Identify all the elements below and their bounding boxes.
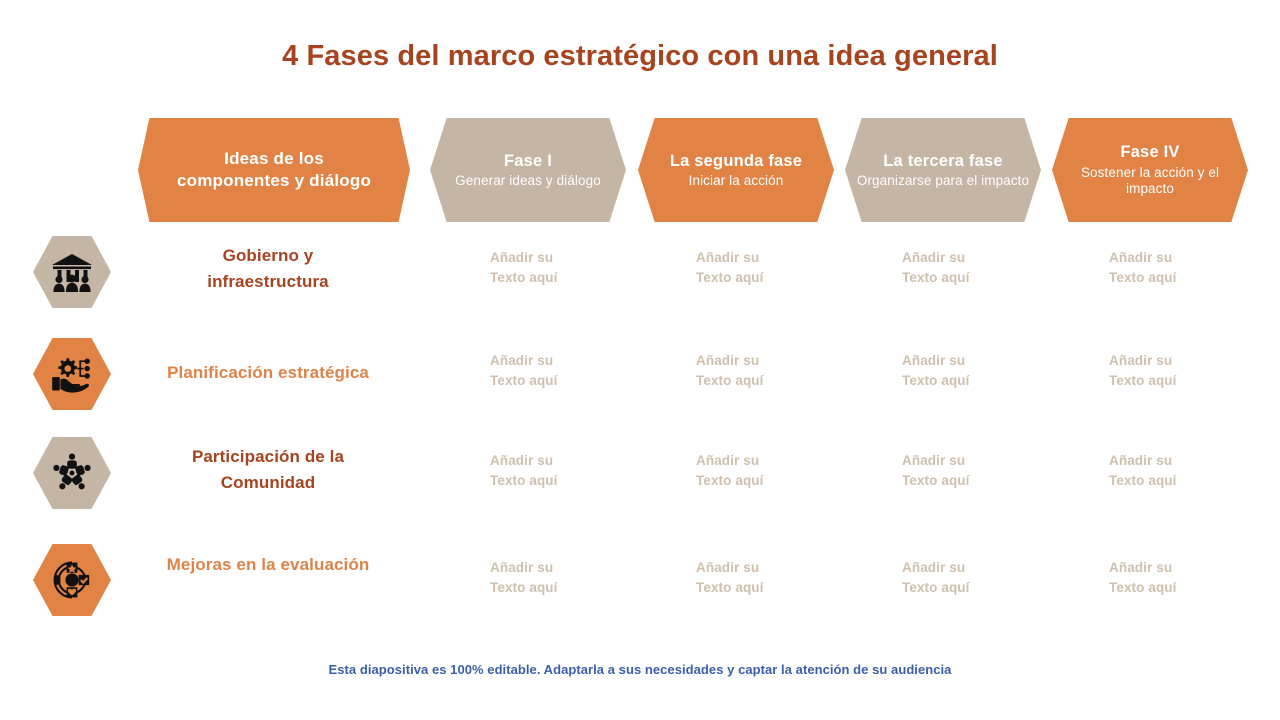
cell-r3-c1[interactable]: Añadir su Texto aquí bbox=[696, 558, 846, 597]
cell-r1-c1[interactable]: Añadir su Texto aquí bbox=[696, 351, 846, 390]
row-label-governance: Gobierno y infraestructura bbox=[163, 243, 373, 294]
cell-r2-c3-line1: Añadir su bbox=[1109, 451, 1259, 471]
cell-r3-c0-line1: Añadir su bbox=[490, 558, 640, 578]
cell-r3-c1-line1: Añadir su bbox=[696, 558, 846, 578]
cell-r2-c3[interactable]: Añadir su Texto aquí bbox=[1109, 451, 1259, 490]
phase-header-row: Ideas de los componentes y diálogo Fase … bbox=[0, 118, 1280, 222]
cell-r3-c3-line1: Añadir su bbox=[1109, 558, 1259, 578]
cell-r0-c2-line1: Añadir su bbox=[902, 248, 1052, 268]
cell-r0-c0-line1: Añadir su bbox=[490, 248, 640, 268]
cell-r0-c3-line1: Añadir su bbox=[1109, 248, 1259, 268]
cell-r1-c3-line1: Añadir su bbox=[1109, 351, 1259, 371]
cell-r1-c0[interactable]: Añadir su Texto aquí bbox=[490, 351, 640, 390]
cell-r2-c2-line1: Añadir su bbox=[902, 451, 1052, 471]
phase-header-0-title-line1: Ideas de los bbox=[224, 148, 324, 170]
cell-r1-c1-line1: Añadir su bbox=[696, 351, 846, 371]
cell-r0-c1-line1: Añadir su bbox=[696, 248, 846, 268]
cell-r3-c2-line2: Texto aquí bbox=[902, 578, 1052, 598]
phase-header-4-title: Fase IV bbox=[1120, 142, 1179, 162]
cell-r0-c0-line2: Texto aquí bbox=[490, 268, 640, 288]
cell-r1-c0-line1: Añadir su bbox=[490, 351, 640, 371]
cell-r2-c1-line1: Añadir su bbox=[696, 451, 846, 471]
cell-r0-c1[interactable]: Añadir su Texto aquí bbox=[696, 248, 846, 287]
cell-r2-c2[interactable]: Añadir su Texto aquí bbox=[902, 451, 1052, 490]
cell-r3-c2[interactable]: Añadir su Texto aquí bbox=[902, 558, 1052, 597]
phase-header-1-subtitle: Generar ideas y diálogo bbox=[455, 173, 601, 189]
row-icon-strategic-planning[interactable] bbox=[33, 338, 111, 410]
cell-r0-c2-line2: Texto aquí bbox=[902, 268, 1052, 288]
government-building-people-icon bbox=[50, 252, 94, 292]
cell-r2-c0[interactable]: Añadir su Texto aquí bbox=[490, 451, 640, 490]
cell-r2-c3-line2: Texto aquí bbox=[1109, 471, 1259, 491]
cell-r1-c1-line2: Texto aquí bbox=[696, 371, 846, 391]
phase-header-2-title: La segunda fase bbox=[670, 151, 802, 171]
cell-r2-c2-line2: Texto aquí bbox=[902, 471, 1052, 491]
row-label-community: Participación de la Comunidad bbox=[163, 444, 373, 495]
cell-r1-c3[interactable]: Añadir su Texto aquí bbox=[1109, 351, 1259, 390]
cell-r0-c1-line2: Texto aquí bbox=[696, 268, 846, 288]
phase-header-1-title: Fase I bbox=[504, 151, 552, 171]
cell-r3-c2-line1: Añadir su bbox=[902, 558, 1052, 578]
phase-header-0[interactable]: Ideas de los componentes y diálogo bbox=[138, 118, 410, 222]
row-label-strategic-planning: Planificación estratégica bbox=[163, 360, 373, 386]
footer-note: Esta diapositiva es 100% editable. Adapt… bbox=[0, 662, 1280, 677]
cell-r2-c0-line2: Texto aquí bbox=[490, 471, 640, 491]
phase-header-0-title-line2: componentes y diálogo bbox=[177, 170, 371, 192]
cell-r0-c3[interactable]: Añadir su Texto aquí bbox=[1109, 248, 1259, 287]
slide-canvas: 4 Fases del marco estratégico con una id… bbox=[0, 0, 1280, 720]
phase-header-2[interactable]: La segunda fase Iniciar la acción bbox=[638, 118, 834, 222]
cell-r3-c0-line2: Texto aquí bbox=[490, 578, 640, 598]
cell-r0-c2[interactable]: Añadir su Texto aquí bbox=[902, 248, 1052, 287]
cell-r1-c2[interactable]: Añadir su Texto aquí bbox=[902, 351, 1052, 390]
row-icon-community[interactable] bbox=[33, 437, 111, 509]
phase-header-2-subtitle: Iniciar la acción bbox=[689, 173, 784, 189]
cell-r2-c1[interactable]: Añadir su Texto aquí bbox=[696, 451, 846, 490]
phase-header-4-subtitle: Sostener la acción y el impacto bbox=[1062, 165, 1238, 198]
phase-header-1[interactable]: Fase I Generar ideas y diálogo bbox=[430, 118, 626, 222]
cell-r3-c3-line2: Texto aquí bbox=[1109, 578, 1259, 598]
cell-r3-c0[interactable]: Añadir su Texto aquí bbox=[490, 558, 640, 597]
page-title: 4 Fases del marco estratégico con una id… bbox=[0, 40, 1280, 73]
cell-r1-c2-line1: Añadir su bbox=[902, 351, 1052, 371]
phase-header-3-title: La tercera fase bbox=[883, 151, 1003, 171]
cell-r0-c3-line2: Texto aquí bbox=[1109, 268, 1259, 288]
phase-header-3-subtitle: Organizarse para el impacto bbox=[857, 173, 1029, 189]
people-circle-community-icon bbox=[50, 452, 94, 494]
row-icon-evaluation[interactable] bbox=[33, 544, 111, 616]
cell-r1-c2-line2: Texto aquí bbox=[902, 371, 1052, 391]
row-label-evaluation: Mejoras en la evaluación bbox=[163, 552, 373, 578]
phase-header-3[interactable]: La tercera fase Organizarse para el impa… bbox=[845, 118, 1041, 222]
cell-r1-c0-line2: Texto aquí bbox=[490, 371, 640, 391]
cell-r3-c3[interactable]: Añadir su Texto aquí bbox=[1109, 558, 1259, 597]
cell-r2-c0-line1: Añadir su bbox=[490, 451, 640, 471]
cell-r3-c1-line2: Texto aquí bbox=[696, 578, 846, 598]
evaluation-target-check-icon bbox=[50, 559, 94, 601]
hand-gear-network-icon bbox=[49, 354, 95, 394]
cell-r1-c3-line2: Texto aquí bbox=[1109, 371, 1259, 391]
cell-r0-c0[interactable]: Añadir su Texto aquí bbox=[490, 248, 640, 287]
row-icon-governance[interactable] bbox=[33, 236, 111, 308]
cell-r2-c1-line2: Texto aquí bbox=[696, 471, 846, 491]
phase-header-4[interactable]: Fase IV Sostener la acción y el impacto bbox=[1052, 118, 1248, 222]
